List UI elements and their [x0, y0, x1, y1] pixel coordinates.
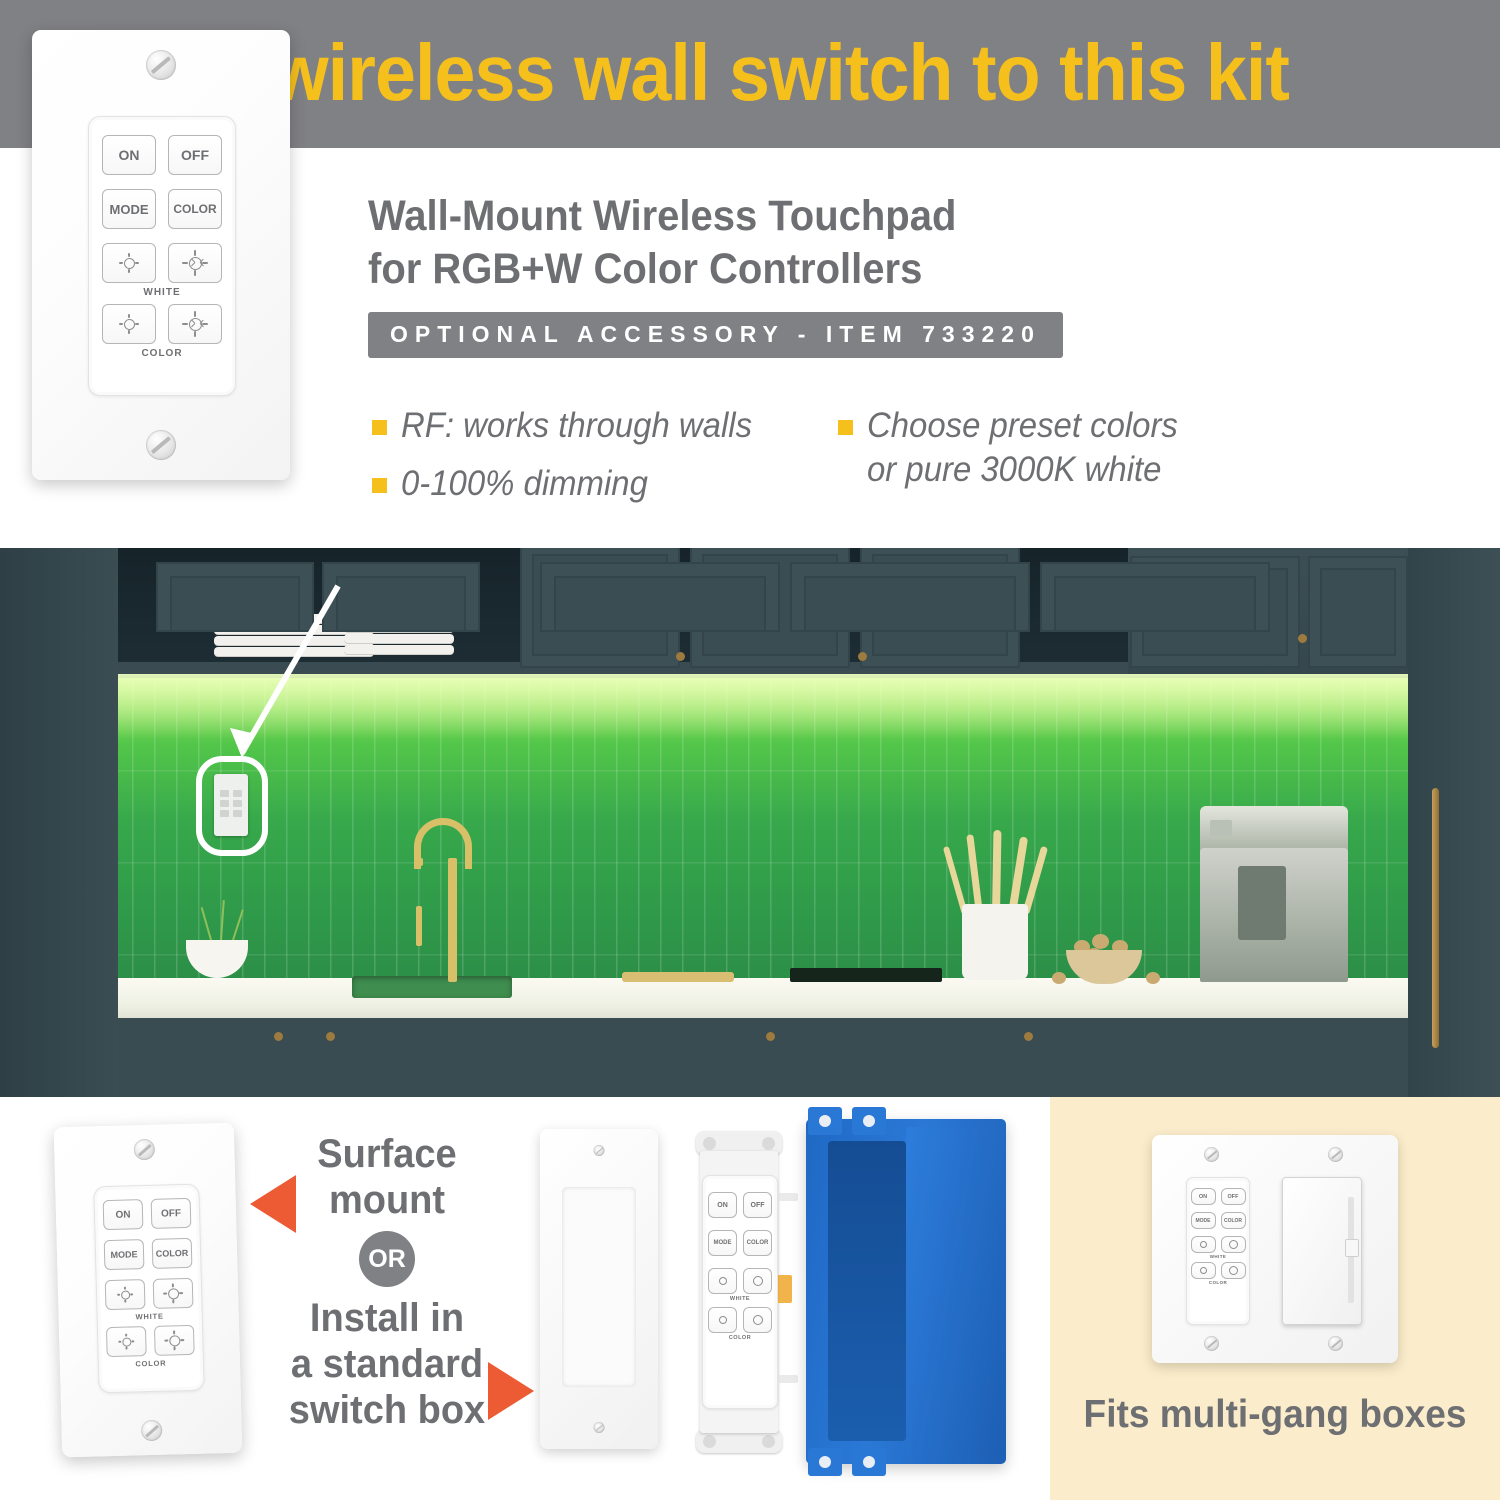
cutting-board — [622, 972, 734, 982]
touchpad-keypad: ON OFF MODE COLOR WHITE — [1186, 1177, 1250, 1325]
product-title-line2: for RGB+W Color Controllers — [368, 243, 1261, 296]
off-button[interactable]: OFF — [743, 1192, 772, 1218]
countertop — [0, 978, 1500, 1018]
feature-column-left: RF: works through walls 0-100% dimming — [372, 404, 774, 506]
sun-dim-icon — [124, 319, 135, 330]
on-button[interactable]: ON — [1191, 1188, 1216, 1205]
color-group-label: COLOR — [89, 348, 235, 359]
on-button[interactable]: ON — [103, 1199, 144, 1230]
sun-dim-icon — [719, 1316, 727, 1324]
screw-icon — [146, 50, 176, 80]
tall-panel — [0, 548, 118, 1097]
screw-icon — [134, 1139, 156, 1161]
cabinet-knob — [274, 1032, 283, 1041]
nut — [1092, 934, 1109, 949]
cabinet-knob — [766, 1032, 775, 1041]
or-badge: OR — [359, 1231, 415, 1287]
screw-icon — [146, 430, 176, 460]
white-dim-down-button[interactable] — [105, 1279, 146, 1310]
off-button[interactable]: OFF — [151, 1198, 192, 1229]
screw-icon — [1204, 1147, 1219, 1162]
sun-bright-icon — [167, 1288, 178, 1299]
appliance-handle — [1432, 788, 1439, 1048]
cabinet-knob — [1024, 1032, 1033, 1041]
cabinet-door — [1308, 556, 1408, 668]
sun-bright-icon — [1229, 1266, 1238, 1275]
multi-gang-caption: Fits multi-gang boxes — [1061, 1393, 1489, 1437]
mounting-ear — [852, 1448, 886, 1476]
color-dim-up-button[interactable] — [743, 1307, 772, 1333]
white-dim-up-button[interactable] — [153, 1278, 194, 1309]
color-button[interactable]: COLOR — [152, 1238, 193, 1269]
sun-dim-icon — [122, 1337, 131, 1346]
sun-dim-icon — [719, 1277, 727, 1285]
color-group-label: COLOR — [703, 1335, 777, 1341]
feature-text: Choose preset colors or pure 3000K white — [867, 404, 1178, 492]
color-dim-up-button[interactable] — [168, 304, 222, 344]
espresso-group-head — [1238, 866, 1286, 940]
feature-text: 0-100% dimming — [401, 462, 648, 506]
cabinet-knob — [858, 652, 867, 661]
color-dim-down-button[interactable] — [106, 1326, 147, 1357]
utensil-crock — [962, 904, 1028, 980]
touchpad-insert-assembly: ON OFF MODE COLOR WHITE — [686, 1127, 806, 1457]
faucet-handle — [416, 906, 422, 946]
touchpad-keypad: ON OFF MODE COLOR WHITE — [702, 1175, 778, 1409]
sun-dim-icon — [120, 1290, 129, 1299]
white-group-label: WHITE — [98, 1311, 202, 1323]
surface-mount-wall-plate: ON OFF MODE COLOR — [54, 1123, 243, 1458]
screw-icon — [594, 1422, 605, 1433]
touchpad-keypad: ON OFF MODE COLOR — [93, 1184, 204, 1394]
sun-bright-icon — [753, 1315, 763, 1325]
mode-button[interactable]: MODE — [104, 1239, 145, 1270]
tall-panel — [1408, 548, 1500, 1097]
faucet-body — [448, 858, 457, 982]
espresso-vent — [1210, 820, 1232, 836]
list-item: 0-100% dimming — [372, 462, 774, 506]
electrical-box — [806, 1119, 1006, 1464]
white-dim-up-button[interactable] — [168, 243, 222, 283]
hero-wall-plate: ON OFF MODE COLOR — [32, 30, 290, 480]
white-dim-up-button[interactable] — [1221, 1236, 1246, 1253]
screw-icon — [594, 1145, 605, 1156]
list-item: RF: works through walls — [372, 404, 774, 448]
surface-mount-line1: Surface — [268, 1131, 506, 1177]
color-dim-up-button[interactable] — [154, 1325, 195, 1356]
color-dim-down-button[interactable] — [1191, 1262, 1216, 1279]
off-button[interactable]: OFF — [1221, 1188, 1246, 1205]
sun-dim-icon — [1200, 1241, 1207, 1248]
feature-column-right: Choose preset colors or pure 3000K white — [838, 404, 1198, 506]
screw-icon — [141, 1420, 163, 1442]
lower-cabinet-band — [0, 1018, 1500, 1097]
on-button[interactable]: ON — [102, 135, 156, 175]
bullet-square-icon — [372, 420, 387, 435]
white-group-label: WHITE — [703, 1296, 777, 1302]
nut — [1146, 972, 1160, 984]
white-dim-down-button[interactable] — [102, 243, 156, 283]
sun-bright-icon — [753, 1276, 763, 1286]
color-button[interactable]: COLOR — [743, 1230, 772, 1256]
sun-dim-icon — [124, 258, 135, 269]
callout-arrow-icon — [150, 548, 450, 848]
color-dim-down-button[interactable] — [102, 304, 156, 344]
mounting-instructions: Surface mount OR Install in a standard s… — [262, 1131, 512, 1433]
install-line2: a standard — [268, 1341, 506, 1387]
white-dim-down-button[interactable] — [708, 1268, 737, 1294]
mounting-ear — [808, 1448, 842, 1476]
off-button[interactable]: OFF — [168, 135, 222, 175]
cabinet-knob — [326, 1032, 335, 1041]
white-group-label: WHITE — [89, 287, 235, 298]
white-group-label: WHITE — [1187, 1254, 1249, 1259]
kitchen-sink — [352, 976, 512, 998]
kitchen-scene-photo — [0, 548, 1500, 1097]
surface-mount-line2: mount — [268, 1177, 506, 1223]
faucet-spout — [414, 858, 423, 866]
feature-list: RF: works through walls 0-100% dimming C… — [372, 404, 1312, 506]
sun-dim-icon — [1200, 1267, 1207, 1274]
cabinet-door — [540, 562, 780, 632]
color-button[interactable]: COLOR — [168, 189, 222, 229]
cabinet-door — [790, 562, 1030, 632]
white-dim-up-button[interactable] — [743, 1268, 772, 1294]
cabinet-door — [1040, 562, 1270, 632]
decora-opening — [562, 1187, 636, 1387]
on-button[interactable]: ON — [708, 1192, 737, 1218]
install-line1: Install in — [268, 1295, 506, 1341]
cabinet-knob — [676, 652, 685, 661]
cabinet-knob — [1298, 634, 1307, 643]
sun-bright-icon — [1229, 1240, 1238, 1249]
feature-text: RF: works through walls — [401, 404, 752, 448]
mounting-ear — [852, 1107, 886, 1135]
dimmer-slider-thumb[interactable] — [1345, 1239, 1359, 1257]
sun-bright-icon — [189, 318, 202, 331]
yoke-tab — [776, 1375, 798, 1383]
utensil — [992, 830, 1001, 914]
mounting-options-row: ON OFF MODE COLOR — [0, 1097, 1500, 1500]
color-button[interactable]: COLOR — [1221, 1212, 1246, 1229]
yoke-clip — [776, 1275, 792, 1303]
electrical-box-body — [906, 1127, 1002, 1457]
electrical-box-cavity — [828, 1141, 906, 1441]
color-dim-up-button[interactable] — [1221, 1262, 1246, 1279]
mode-button[interactable]: MODE — [102, 189, 156, 229]
yoke-tab — [776, 1193, 798, 1201]
mode-button[interactable]: MODE — [1191, 1212, 1216, 1229]
two-gang-wall-plate: ON OFF MODE COLOR WHITE — [1152, 1135, 1398, 1363]
color-group-label: COLOR — [99, 1358, 203, 1370]
color-dim-down-button[interactable] — [708, 1307, 737, 1333]
decora-cover-plate — [540, 1129, 658, 1449]
sun-bright-icon — [169, 1335, 180, 1346]
bullet-square-icon — [372, 478, 387, 493]
screw-icon — [1328, 1147, 1343, 1162]
mode-button[interactable]: MODE — [708, 1230, 737, 1256]
product-text-block: Wall-Mount Wireless Touchpad for RGB+W C… — [368, 190, 1328, 358]
status-badge: OPTIONAL ACCESSORY - ITEM 733220 — [368, 312, 1063, 358]
cooktop — [790, 968, 942, 982]
sun-bright-icon — [189, 257, 202, 270]
product-title-line1: Wall-Mount Wireless Touchpad — [368, 190, 1261, 243]
install-line3: switch box — [268, 1387, 506, 1433]
white-dim-down-button[interactable] — [1191, 1236, 1216, 1253]
nut — [1052, 972, 1066, 984]
bullet-square-icon — [838, 420, 853, 435]
touchpad-keypad: ON OFF MODE COLOR — [88, 116, 236, 396]
screw-icon — [1328, 1336, 1343, 1351]
list-item: Choose preset colors or pure 3000K white — [838, 404, 1198, 492]
infographic-page: Add a wireless wall switch to this kit W… — [0, 0, 1500, 1500]
mounting-ear — [808, 1107, 842, 1135]
screw-icon — [1204, 1336, 1219, 1351]
color-group-label: COLOR — [1187, 1280, 1249, 1285]
